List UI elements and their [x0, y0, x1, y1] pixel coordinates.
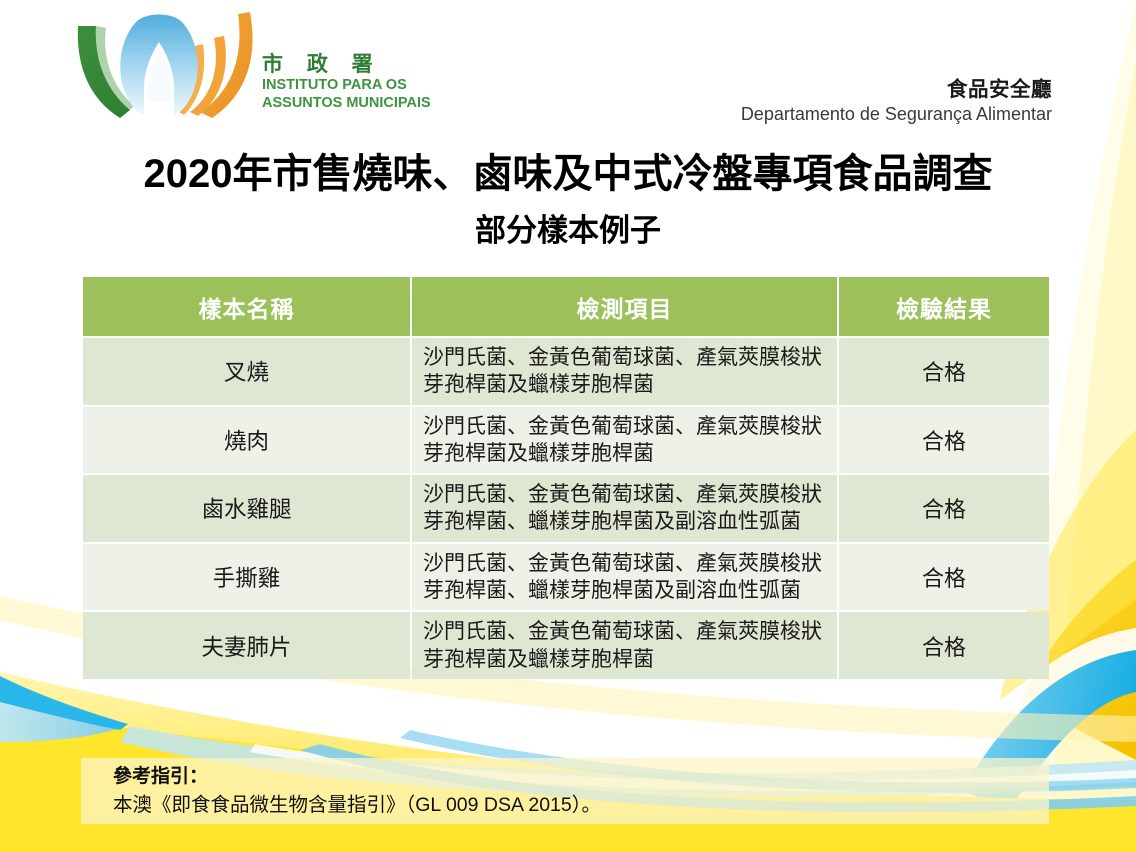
table-row: 叉燒 沙門氏菌、金黃色葡萄球菌、產氣莢膜梭狀芽孢桿菌及蠟樣芽胞桿菌 合格	[83, 338, 1049, 405]
column-header-sample-name: 樣本名稱	[83, 277, 410, 336]
logo-chinese-name: 市 政 署	[262, 54, 437, 75]
test-result: 合格	[839, 612, 1049, 679]
reference-text: 本澳《即食食品微生物含量指引》（GL 009 DSA 2015）。	[113, 791, 1049, 819]
table-row: 夫妻肺片 沙門氏菌、金黃色葡萄球菌、產氣莢膜梭狀芽孢桿菌及蠟樣芽胞桿菌 合格	[83, 612, 1049, 679]
sample-name: 燒肉	[83, 407, 410, 474]
test-result: 合格	[839, 475, 1049, 542]
sample-name: 鹵水雞腿	[83, 475, 410, 542]
sample-results-table: 樣本名稱 檢測項目 檢驗結果 叉燒 沙門氏菌、金黃色葡萄球菌、產氣莢膜梭狀芽孢桿…	[81, 275, 1051, 681]
table-row: 燒肉 沙門氏菌、金黃色葡萄球菌、產氣莢膜梭狀芽孢桿菌及蠟樣芽胞桿菌 合格	[83, 407, 1049, 474]
institute-logo: 市 政 署 INSTITUTO PARA OS ASSUNTOS MUNICIP…	[72, 2, 432, 118]
page-title: 2020年市售燒味、鹵味及中式冷盤專項食品調查	[0, 141, 1136, 199]
test-items: 沙門氏菌、金黃色葡萄球菌、產氣莢膜梭狀芽孢桿菌及蠟樣芽胞桿菌	[412, 338, 837, 405]
test-items: 沙門氏菌、金黃色葡萄球菌、產氣莢膜梭狀芽孢桿菌、蠟樣芽胞桿菌及副溶血性弧菌	[412, 544, 837, 611]
sample-name: 手撕雞	[83, 544, 410, 611]
sample-name: 夫妻肺片	[83, 612, 410, 679]
imm-lotus-logo-icon	[72, 2, 268, 118]
test-items: 沙門氏菌、金黃色葡萄球菌、產氣莢膜梭狀芽孢桿菌及蠟樣芽胞桿菌	[412, 407, 837, 474]
table-row: 鹵水雞腿 沙門氏菌、金黃色葡萄球菌、產氣莢膜梭狀芽孢桿菌、蠟樣芽胞桿菌及副溶血性…	[83, 475, 1049, 542]
sample-name: 叉燒	[83, 338, 410, 405]
test-result: 合格	[839, 407, 1049, 474]
column-header-test-items: 檢測項目	[412, 277, 837, 336]
department-name-chinese: 食品安全廳	[741, 78, 1052, 102]
table-header-row: 樣本名稱 檢測項目 檢驗結果	[83, 277, 1049, 336]
reference-guideline-note: 參考指引： 本澳《即食食品微生物含量指引》（GL 009 DSA 2015）。	[81, 758, 1049, 824]
logo-portuguese-line1: INSTITUTO PARA OS	[262, 77, 437, 93]
table-row: 手撕雞 沙門氏菌、金黃色葡萄球菌、產氣莢膜梭狀芽孢桿菌、蠟樣芽胞桿菌及副溶血性弧…	[83, 544, 1049, 611]
reference-label: 參考指引：	[113, 763, 1049, 791]
department-name-portuguese: Departamento de Segurança Alimentar	[741, 103, 1052, 126]
page-subtitle: 部分樣本例子	[0, 205, 1136, 250]
test-result: 合格	[839, 544, 1049, 611]
test-items: 沙門氏菌、金黃色葡萄球菌、產氣莢膜梭狀芽孢桿菌、蠟樣芽胞桿菌及副溶血性弧菌	[412, 475, 837, 542]
logo-portuguese-line2: ASSUNTOS MUNICIPAIS	[262, 95, 437, 111]
test-result: 合格	[839, 338, 1049, 405]
department-heading: 食品安全廳 Departamento de Segurança Alimenta…	[741, 78, 1052, 125]
column-header-result: 檢驗結果	[839, 277, 1049, 336]
test-items: 沙門氏菌、金黃色葡萄球菌、產氣莢膜梭狀芽孢桿菌及蠟樣芽胞桿菌	[412, 612, 837, 679]
